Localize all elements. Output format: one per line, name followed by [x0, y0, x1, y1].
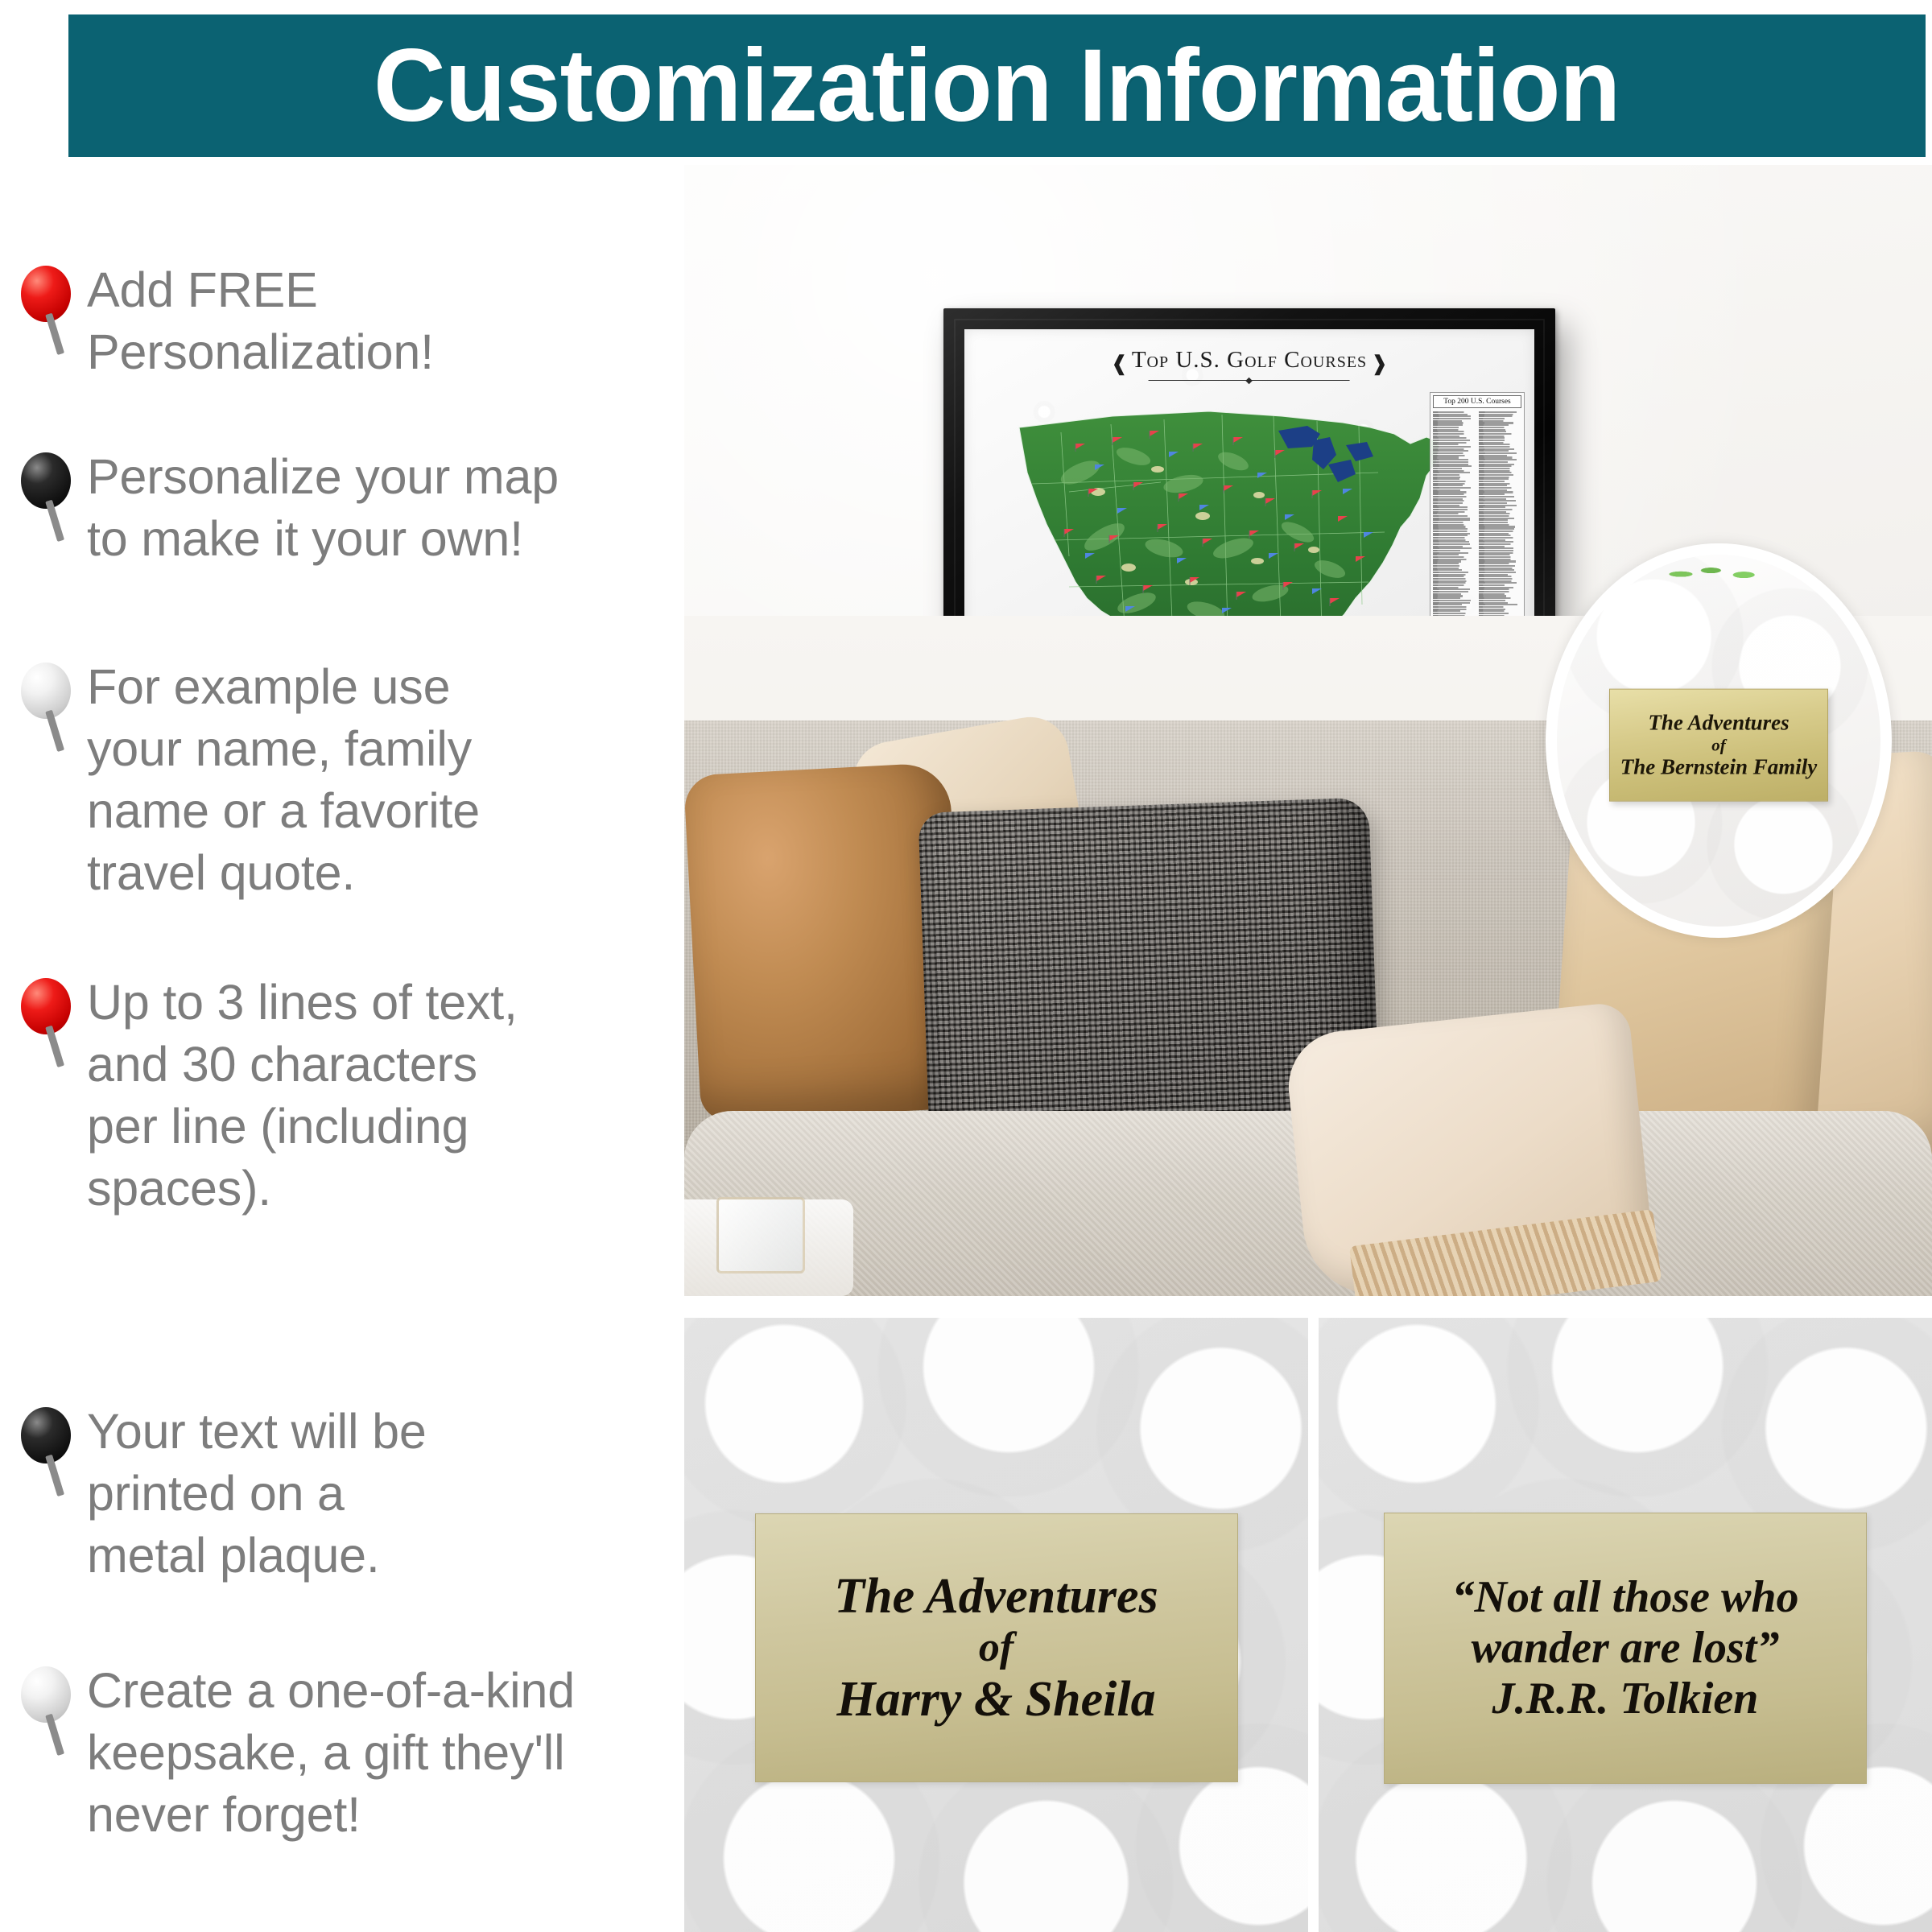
customization-information-infographic: Customization Information Add FREE Perso…	[0, 0, 1932, 1932]
feature-bullet-list: Add FREE Personalization! Personalize yo…	[0, 266, 676, 1860]
example-nameplate-left: The Adventures of Harry & Sheila	[755, 1513, 1238, 1782]
header-banner: Customization Information	[68, 14, 1926, 157]
page-title: Customization Information	[374, 35, 1620, 138]
map-pin-icon	[21, 978, 95, 1067]
nameplate-line-3: The Bernstein Family	[1620, 755, 1818, 780]
example-plaque-panel-left: The Adventures of Harry & Sheila	[684, 1318, 1308, 1932]
map-pin-icon	[21, 452, 95, 541]
legend-title: Top 200 U.S. Courses	[1433, 395, 1521, 408]
laurel-right-icon: ❱	[1371, 351, 1389, 376]
list-item-label: For example use your name, family name o…	[87, 656, 667, 903]
example-plaque-panel-right: “Not all those who wander are lost” J.R.…	[1319, 1318, 1932, 1932]
list-item-label: Personalize your map to make it your own…	[87, 446, 667, 570]
list-item-label: Your text will be printed on a metal pla…	[87, 1401, 667, 1587]
list-item-label: Create a one-of-a-kind keepsake, a gift …	[87, 1660, 667, 1846]
nameplate-line-1: “Not all those who	[1452, 1572, 1799, 1623]
nameplate-line-2: of	[1711, 735, 1726, 754]
map-title-block: ❰ Top U.S. Golf Courses ❱	[1111, 347, 1389, 381]
map-pin-icon	[21, 663, 95, 751]
nameplate-line-2: of	[979, 1624, 1013, 1672]
map-pin-icon	[21, 1407, 95, 1496]
list-item-label: Add FREE Personalization!	[87, 259, 667, 383]
nameplate-line-1: The Adventures	[1648, 710, 1789, 735]
lifestyle-photo-map-on-wall: ❰ Top U.S. Golf Courses ❱	[684, 165, 1932, 1296]
glass-vase	[716, 1197, 805, 1274]
map-title-divider	[1149, 380, 1350, 381]
laurel-left-icon: ❰	[1111, 351, 1129, 376]
magnifier-large-circle: The Adventures of The Bernstein Family	[1546, 543, 1892, 938]
nameplate-line-2: wander are lost”	[1472, 1623, 1780, 1674]
greenery-decor	[1653, 548, 1790, 585]
map-pin-icon	[21, 266, 95, 354]
nameplate-line-3: Harry & Sheila	[836, 1671, 1155, 1728]
list-item-label: Up to 3 lines of text, and 30 characters…	[87, 972, 667, 1219]
magnified-nameplate: The Adventures of The Bernstein Family	[1609, 689, 1828, 802]
nameplate-line-3: J.R.R. Tolkien	[1492, 1674, 1759, 1724]
map-pin-icon	[21, 1666, 95, 1755]
map-title: Top U.S. Golf Courses	[1132, 347, 1367, 373]
nameplate-line-1: The Adventures	[834, 1568, 1158, 1624]
example-nameplate-right: “Not all those who wander are lost” J.R.…	[1384, 1513, 1867, 1784]
